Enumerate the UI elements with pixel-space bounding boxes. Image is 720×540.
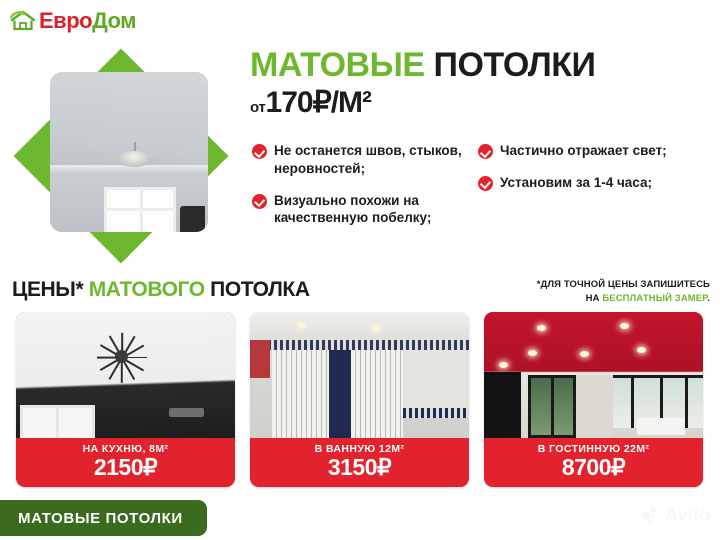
price-prefix: от xyxy=(250,99,266,116)
card-price: 2150₽ xyxy=(20,455,231,480)
prices-title-word3: ПОТОЛКА xyxy=(210,278,309,301)
check-circle-icon xyxy=(252,144,267,159)
spotlight-icon xyxy=(580,351,589,357)
note-highlight: БЕСПЛАТНЫЙ ЗАМЕР xyxy=(602,293,707,304)
prices-title-word1: ЦЕНЫ* xyxy=(12,278,83,301)
card-price: 3150₽ xyxy=(254,455,465,480)
feature-column-right: Частично отражает свет; Установим за 1-4… xyxy=(478,142,704,241)
feature-list: Не останется швов, стыков, неровностей; … xyxy=(252,142,704,241)
advertisement-banner: ЕвроДом МАТОВЫЕ ПОТОЛКИ от170₽/М² Не ост… xyxy=(0,0,720,540)
feature-text: Установим за 1-4 часа; xyxy=(500,174,652,192)
card-image-kitchen xyxy=(16,312,235,438)
prices-section-title: ЦЕНЫ* МАТОВОГО ПОТОЛКА xyxy=(12,278,310,302)
brand-name: ЕвроДом xyxy=(39,10,136,32)
avito-wordmark: Avito xyxy=(665,506,710,525)
headline-green-word: МАТОВЫЕ xyxy=(250,46,425,84)
dining-table xyxy=(637,418,685,436)
card-caption-living-room: В ГОСТИННУЮ 22М² 8700₽ xyxy=(484,438,703,487)
card-image-bathroom xyxy=(250,312,469,438)
tiled-wall-left xyxy=(272,350,329,438)
spotlight-icon xyxy=(528,350,537,356)
price-value: 170₽/М² xyxy=(266,86,371,119)
card-caption-kitchen: НА КУХНЮ, 8М² 2150₽ xyxy=(16,438,235,487)
list-item: Установим за 1-4 часа; xyxy=(478,174,704,192)
price-cards: НА КУХНЮ, 8М² 2150₽ В ВАННУЮ 12М² 3150₽ xyxy=(16,312,703,487)
spotlight-icon xyxy=(373,326,380,331)
feature-text: Не останется швов, стыков, неровностей; xyxy=(274,142,478,178)
starburst-lamp-icon xyxy=(95,330,149,384)
avito-dots-icon xyxy=(642,507,662,524)
chandelier-icon xyxy=(115,142,153,176)
spotlight-icon xyxy=(637,347,646,353)
price-card-kitchen[interactable]: НА КУХНЮ, 8М² 2150₽ xyxy=(16,312,235,487)
headline-title: МАТОВЫЕ ПОТОЛКИ xyxy=(250,48,595,83)
spotlight-icon xyxy=(537,325,546,331)
brand-name-part1: Евро xyxy=(39,8,92,33)
interior-partition xyxy=(576,375,613,438)
brand-logo: ЕвроДом xyxy=(10,8,136,34)
tiled-wall-right xyxy=(351,350,404,438)
photo-window xyxy=(104,187,177,232)
tile-border-band xyxy=(250,340,469,350)
card-ceiling xyxy=(250,312,469,340)
check-circle-icon xyxy=(478,144,493,159)
fireplace-unit xyxy=(484,372,521,438)
spotlight-icon xyxy=(499,362,508,368)
headline-black-word: ПОТОЛКИ xyxy=(434,46,596,84)
measurement-note: *ДЛЯ ТОЧНОЙ ЦЕНЫ ЗАПИШИТЕСЬ НА БЕСПЛАТНЫ… xyxy=(537,278,710,306)
photo-dark-corner xyxy=(180,206,205,232)
cta-button[interactable]: МАТОВЫЕ ПОТОЛКИ xyxy=(0,500,207,536)
hero-ceiling-photo xyxy=(50,72,208,232)
avito-watermark: Avito xyxy=(642,506,710,525)
spotlight-icon xyxy=(620,323,629,329)
card-price: 8700₽ xyxy=(488,455,699,480)
card-window xyxy=(20,405,94,438)
card-image-living-room xyxy=(484,312,703,438)
navy-baseboard xyxy=(403,408,469,418)
feature-text: Частично отражает свет; xyxy=(500,142,667,160)
list-item: Визуально похожи на качественную побелку… xyxy=(252,192,478,228)
brand-name-part2: Дом xyxy=(92,8,136,33)
plain-wall-right xyxy=(403,350,469,408)
note-line-2: НА БЕСПЛАТНЫЙ ЗАМЕР. xyxy=(537,292,710,306)
sliding-door-left xyxy=(528,375,576,438)
hero-headline: МАТОВЫЕ ПОТОЛКИ от170₽/М² xyxy=(250,48,595,118)
feature-column-left: Не останется швов, стыков, неровностей; … xyxy=(252,142,478,241)
navy-tile-strip xyxy=(329,350,351,438)
hero-price: от170₽/М² xyxy=(250,88,595,118)
list-item: Не останется швов, стыков, неровностей; xyxy=(252,142,478,178)
card-caption-bathroom: В ВАННУЮ 12М² 3150₽ xyxy=(250,438,469,487)
list-item: Частично отражает свет; xyxy=(478,142,704,160)
prices-title-word2: МАТОВОГО xyxy=(89,278,205,301)
check-circle-icon xyxy=(252,194,267,209)
note-prefix: НА xyxy=(586,293,600,304)
hero-artwork xyxy=(2,42,240,270)
price-card-living-room[interactable]: В ГОСТИННУЮ 22М² 8700₽ xyxy=(484,312,703,487)
card-vent xyxy=(169,408,204,417)
cta-label: МАТОВЫЕ ПОТОЛКИ xyxy=(18,510,183,527)
note-period: . xyxy=(707,293,710,304)
card-red-wall xyxy=(250,340,270,378)
feature-text: Визуально похожи на качественную побелку… xyxy=(274,192,478,228)
check-circle-icon xyxy=(478,176,493,191)
note-line-1: *ДЛЯ ТОЧНОЙ ЦЕНЫ ЗАПИШИТЕСЬ xyxy=(537,278,710,292)
price-card-bathroom[interactable]: В ВАННУЮ 12М² 3150₽ xyxy=(250,312,469,487)
house-icon xyxy=(10,8,36,34)
